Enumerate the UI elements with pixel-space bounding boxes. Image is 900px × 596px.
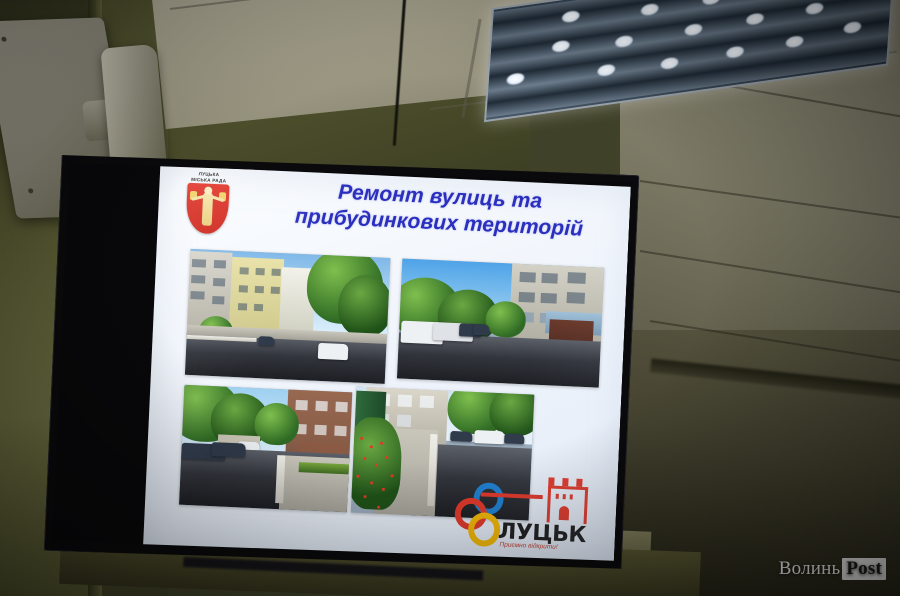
photo-scene: ЛУЦЬКА МІСЬКА РАДА Ремонт вулиць та приб… [0,0,900,596]
coat-of-arms-shield [185,183,229,235]
slide-photo-3 [179,385,352,512]
watermark: Волинь Post [779,558,886,580]
emblem-figure-body [202,192,214,226]
presentation-slide: ЛУЦЬКА МІСЬКА РАДА Ремонт вулиць та приб… [143,165,631,566]
slide-photo-1 [185,249,391,384]
brand-loop-yellow [467,512,501,547]
slide-photo-2 [397,259,604,388]
castle-tower-icon [541,477,589,521]
tv-screen[interactable]: ЛУЦЬКА МІСЬКА РАДА Ремонт вулиць та приб… [52,157,631,566]
brand-tagline: Приємно відкрити! [499,541,557,551]
wall-mounted-tv[interactable]: ЛУЦЬКА МІСЬКА РАДА Ремонт вулиць та приб… [44,149,640,577]
slide-title: Ремонт вулиць та прибудинкових територій [254,176,626,246]
city-council-emblem: ЛУЦЬКА МІСЬКА РАДА [169,170,246,243]
lutsk-city-brand-logo: ЛУЦЬК Приємно відкрити! [445,467,597,560]
watermark-prefix: Волинь [779,558,841,580]
watermark-badge: Post [842,558,886,580]
